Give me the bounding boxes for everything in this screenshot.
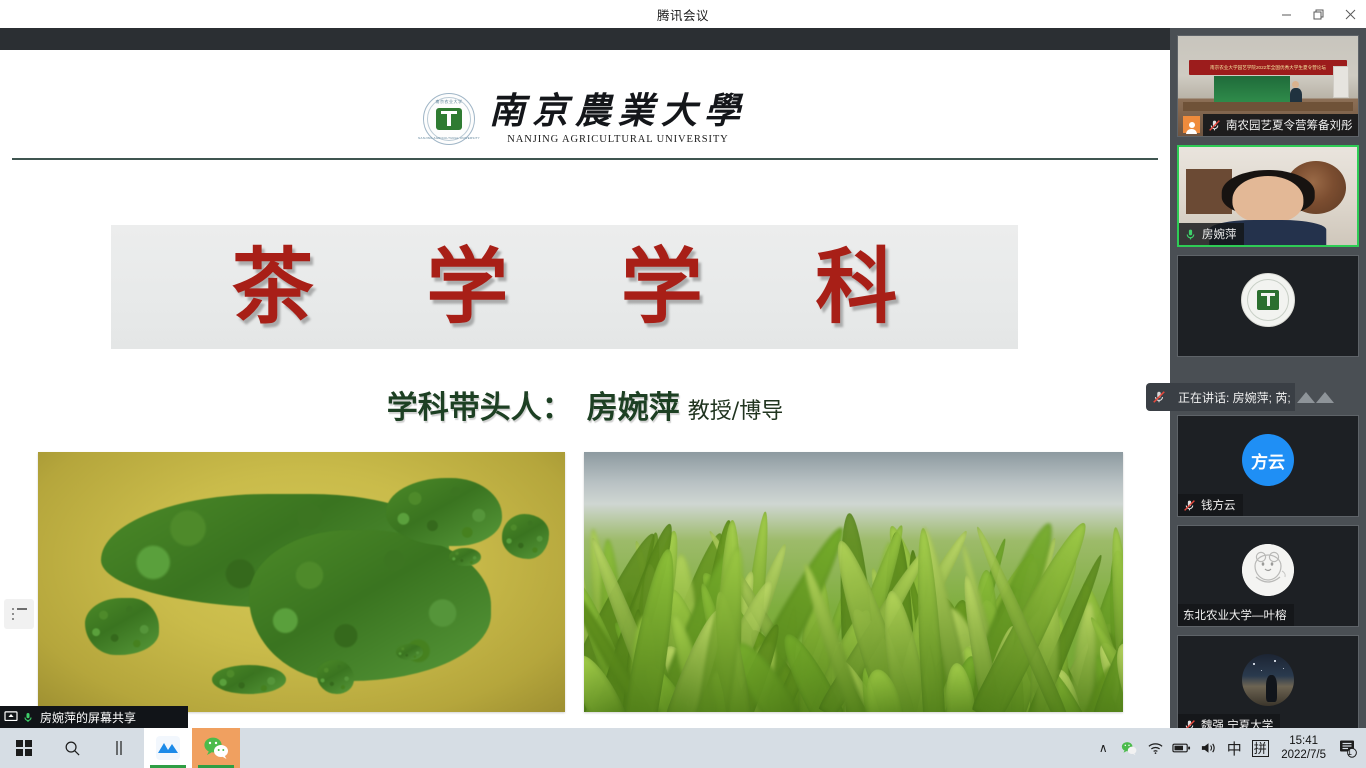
tea-plantation-image — [584, 452, 1123, 712]
task-view-icon — [113, 740, 127, 756]
university-name-cn: 南京農業大學 — [489, 93, 747, 131]
wechat-icon — [203, 736, 229, 760]
tray-wifi-icon[interactable] — [1142, 728, 1168, 768]
system-tray: ∧ — [1090, 728, 1366, 768]
notification-center-button[interactable]: 1 — [1334, 728, 1362, 768]
doodle-avatar-icon — [1242, 544, 1294, 596]
avatar — [1183, 116, 1200, 133]
tray-battery-icon[interactable] — [1168, 728, 1195, 768]
minimize-button[interactable] — [1270, 0, 1302, 28]
slide-title: 茶 学 学 科 — [190, 246, 940, 328]
windows-logo-icon — [16, 740, 33, 757]
participant-list-toggle-button[interactable] — [4, 599, 34, 629]
tea-leaf-china-map-image — [38, 452, 565, 712]
participant-name: 钱方云 — [1201, 497, 1236, 513]
meeting-window-body: 南京农业大学 NANJING AGRICULTURAL UNIVERSITY 南… — [0, 28, 1366, 740]
ime-language-indicator[interactable]: 中 — [1221, 728, 1247, 768]
windows-taskbar: ∧ — [0, 728, 1366, 768]
search-button[interactable] — [48, 728, 96, 768]
tray-volume-icon[interactable] — [1195, 728, 1221, 768]
university-wordmark: 南京農業大學 NANJING AGRICULTURAL UNIVERSITY — [489, 93, 747, 146]
window-title-bar: 腾讯会议 — [0, 0, 1366, 28]
screen-share-label: 房婉萍的屏幕共享 — [40, 709, 136, 726]
mic-active-icon — [1184, 228, 1197, 241]
ime-pinyin-indicator[interactable]: 拼 — [1247, 728, 1273, 768]
mic-muted-icon — [1146, 383, 1172, 411]
participant-name-label: 房婉萍 — [1179, 223, 1244, 245]
avatar: 方云 — [1242, 434, 1294, 486]
participant-tile-3[interactable] — [1177, 255, 1359, 357]
tencent-meeting-icon — [154, 734, 182, 762]
university-name-en: NANJING AGRICULTURAL UNIVERSITY — [507, 134, 728, 145]
slide-subtitle: 学科带头人：房婉萍教授/博导 — [0, 382, 1170, 427]
participant-tile-1[interactable]: 南京农业大学园艺学院2022年全国优秀大学生夏令营论坛 南农园艺夏令营筹备刘彤 — [1177, 35, 1359, 137]
mic-muted-icon — [1183, 499, 1196, 512]
chevron-up-icon — [1297, 392, 1334, 403]
tray-chevron-up-icon[interactable]: ∧ — [1090, 728, 1116, 768]
room-banner-text: 南京农业大学园艺学院2022年全国优秀大学生夏令营论坛 — [1189, 60, 1347, 75]
slide-images — [0, 452, 1170, 712]
screen-share-icon — [4, 711, 18, 723]
shared-content-topbar — [0, 28, 1170, 50]
taskbar-app-wechat[interactable] — [192, 728, 240, 768]
start-button[interactable] — [0, 728, 48, 768]
slide-header: 南京农业大学 NANJING AGRICULTURAL UNIVERSITY 南… — [0, 80, 1170, 158]
speaking-toast: 正在讲话: 房婉萍; 芮; — [1146, 383, 1334, 411]
close-button[interactable] — [1334, 0, 1366, 28]
shared-screen-stage[interactable]: 南京农业大学 NANJING AGRICULTURAL UNIVERSITY 南… — [0, 50, 1170, 732]
participant-tile-2[interactable]: 房婉萍 — [1177, 145, 1359, 247]
tray-wechat-icon[interactable] — [1116, 728, 1142, 768]
seal-bottom-text: NANJING AGRICULTURAL UNIVERSITY — [418, 136, 480, 140]
participant-name: 东北农业大学—叶榕 — [1183, 607, 1287, 623]
njau-seal-icon: 南京农业大学 NANJING AGRICULTURAL UNIVERSITY — [423, 93, 475, 145]
taskbar-app-tencent-meeting[interactable] — [144, 728, 192, 768]
participant-name-label: 南农园艺夏令营筹备刘彤 — [1203, 114, 1359, 136]
window-controls — [1270, 0, 1366, 28]
window-title: 腾讯会议 — [657, 5, 709, 24]
photo-avatar — [1242, 654, 1294, 706]
speaking-toast-label: 正在讲话: 房婉萍; 芮; — [1172, 383, 1295, 411]
participant-tile-4[interactable]: 方云 钱方云 — [1177, 415, 1359, 517]
participant-name: 房婉萍 — [1202, 226, 1237, 242]
taskbar-clock[interactable]: 15:41 2022/7/5 — [1273, 728, 1334, 768]
slide-title-band: 茶 学 学 科 — [111, 225, 1018, 349]
subtitle-lead: 学科带头人： — [387, 390, 573, 426]
clock-time: 15:41 — [1289, 734, 1318, 748]
slide-header-divider — [12, 158, 1158, 160]
subtitle-role: 教授/博导 — [688, 399, 783, 424]
participant-name-label: 钱方云 — [1178, 494, 1243, 516]
participant-tile-5[interactable]: 东北农业大学—叶榕 — [1177, 525, 1359, 627]
maximize-restore-button[interactable] — [1302, 0, 1334, 28]
mic-active-icon — [22, 711, 36, 723]
participant-tile-6[interactable]: 魏强 宁夏大学 — [1177, 635, 1359, 737]
seal-top-text: 南京农业大学 — [435, 99, 462, 105]
participant-name-label: 东北农业大学—叶榕 — [1178, 604, 1294, 626]
njau-logo-avatar-icon — [1241, 273, 1295, 327]
subtitle-name: 房婉萍 — [587, 390, 680, 426]
clock-date: 2022/7/5 — [1281, 748, 1326, 762]
list-icon — [12, 608, 27, 620]
mic-muted-icon — [1208, 119, 1221, 132]
search-icon — [64, 740, 81, 757]
task-view-button[interactable] — [96, 728, 144, 768]
participant-name: 南农园艺夏令营筹备刘彤 — [1226, 117, 1353, 133]
screen-share-indicator[interactable]: 房婉萍的屏幕共享 — [0, 706, 188, 728]
notification-badge-count: 1 — [1347, 747, 1352, 757]
presentation-slide: 南京农业大学 NANJING AGRICULTURAL UNIVERSITY 南… — [0, 50, 1170, 732]
